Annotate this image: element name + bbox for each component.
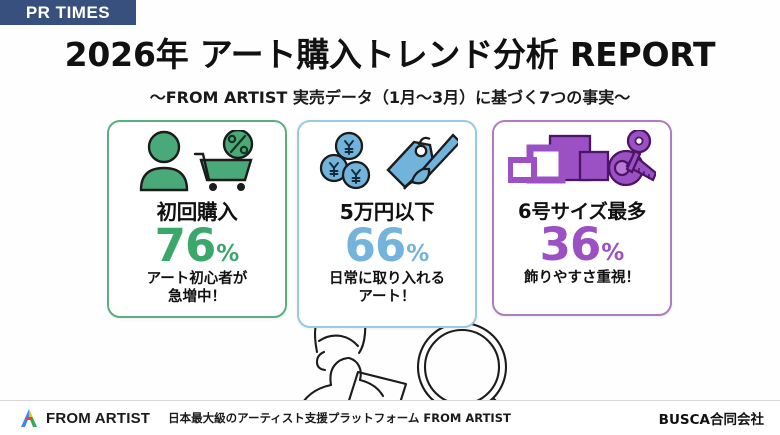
card-caption: 飾りやすさ重視！ <box>524 270 640 288</box>
footer-tagline: 日本最大級のアーティスト支援プラットフォーム FROM ARTIST <box>168 410 511 426</box>
footer-brand: FROM ARTIST <box>46 410 150 427</box>
report-infographic: PR TIMES 2026年 アート購入トレンド分析 REPORT 〜FROM … <box>0 0 780 435</box>
card-caption-line1: 日常に取り入れる <box>329 271 445 289</box>
card-icon-group-first-purchase <box>109 128 285 194</box>
card-percentage: 76 % <box>155 223 240 268</box>
shopping-cart-icon <box>195 154 251 191</box>
card-value: 76 <box>155 223 216 268</box>
card-value: 36 <box>540 222 601 267</box>
stat-card-first-purchase[interactable]: 初回購入 76 % アート初心者が 急増中！ <box>107 120 287 318</box>
card-caption-line1: 飾りやすさ重視！ <box>524 270 640 288</box>
stat-card-row: 初回購入 76 % アート初心者が 急増中！ <box>0 120 780 330</box>
card-caption: アート初心者が 急増中！ <box>147 271 248 306</box>
picture-frames-icon <box>510 136 608 180</box>
from-artist-logo-icon <box>16 405 42 431</box>
card-percentage: 66 % <box>345 223 430 268</box>
card-icon-group-size <box>494 128 670 194</box>
card-value: 66 <box>345 223 406 268</box>
footer-company: BUSCA合同会社 <box>659 408 764 428</box>
card-caption: 日常に取り入れる アート！ <box>329 271 445 306</box>
person-icon <box>141 132 187 190</box>
percent-badge-icon <box>224 130 252 158</box>
card-unit: % <box>406 243 429 266</box>
card-caption-line1: アート初心者が <box>147 271 248 289</box>
page-subtitle: 〜FROM ARTIST 実売データ（1月〜3月）に基づく7つの事実〜 <box>0 84 780 108</box>
card-caption-line2: アート！ <box>329 289 445 307</box>
card-percentage: 36 % <box>540 222 625 267</box>
card-caption-line2: 急増中！ <box>147 289 248 307</box>
page-title: 2026年 アート購入トレンド分析 REPORT <box>0 28 780 76</box>
stat-card-size-no6[interactable]: 6号サイズ最多 36 % 飾りやすさ重視！ <box>492 120 672 316</box>
card-unit: % <box>216 243 239 266</box>
card-icon-group-price <box>299 128 475 194</box>
stat-card-price-under-50000[interactable]: 5万円以下 66 % 日常に取り入れる アート！ <box>297 120 477 328</box>
footer-bar: FROM ARTIST 日本最大級のアーティスト支援プラットフォーム FROM … <box>0 400 780 435</box>
pr-times-logo: PR TIMES <box>0 0 136 25</box>
yen-coin-icon <box>321 133 369 188</box>
pr-times-logo-label: PR TIMES <box>26 3 110 23</box>
card-unit: % <box>601 242 624 265</box>
